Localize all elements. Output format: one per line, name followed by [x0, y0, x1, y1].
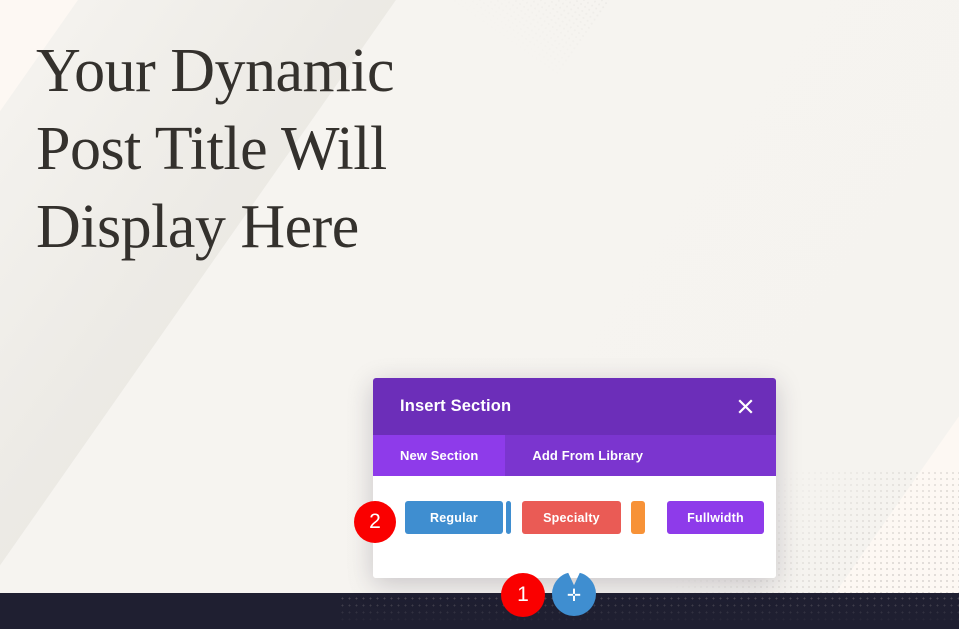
section-type-regular-button[interactable]: Regular [405, 501, 503, 534]
annotation-marker-1: 1 [501, 573, 545, 617]
tab-new-section[interactable]: New Section [373, 435, 505, 476]
insert-section-modal: Insert Section New Section Add From Libr… [373, 378, 776, 578]
annotation-marker-2: 2 [354, 501, 396, 543]
page-footer [0, 593, 959, 629]
modal-header: Insert Section [373, 378, 776, 435]
section-type-orange-sliver[interactable] [631, 501, 645, 534]
tab-add-from-library[interactable]: Add From Library [505, 435, 670, 476]
modal-tab-bar: New Section Add From Library [373, 435, 776, 476]
modal-title: Insert Section [400, 397, 732, 416]
close-icon [738, 399, 753, 414]
footer-dot-texture [339, 595, 959, 625]
modal-body: Regular Specialty Fullwidth [373, 476, 776, 578]
plus-icon: ✛ [567, 587, 581, 604]
section-type-specialty-button[interactable]: Specialty [522, 501, 621, 534]
section-type-fullwidth-button[interactable]: Fullwidth [667, 501, 764, 534]
close-button[interactable] [732, 394, 758, 420]
page-title: Your Dynamic Post Title Will Display Her… [36, 32, 506, 266]
section-type-regular-sliver[interactable] [506, 501, 511, 534]
section-type-carousel: Regular Specialty Fullwidth [405, 501, 764, 534]
